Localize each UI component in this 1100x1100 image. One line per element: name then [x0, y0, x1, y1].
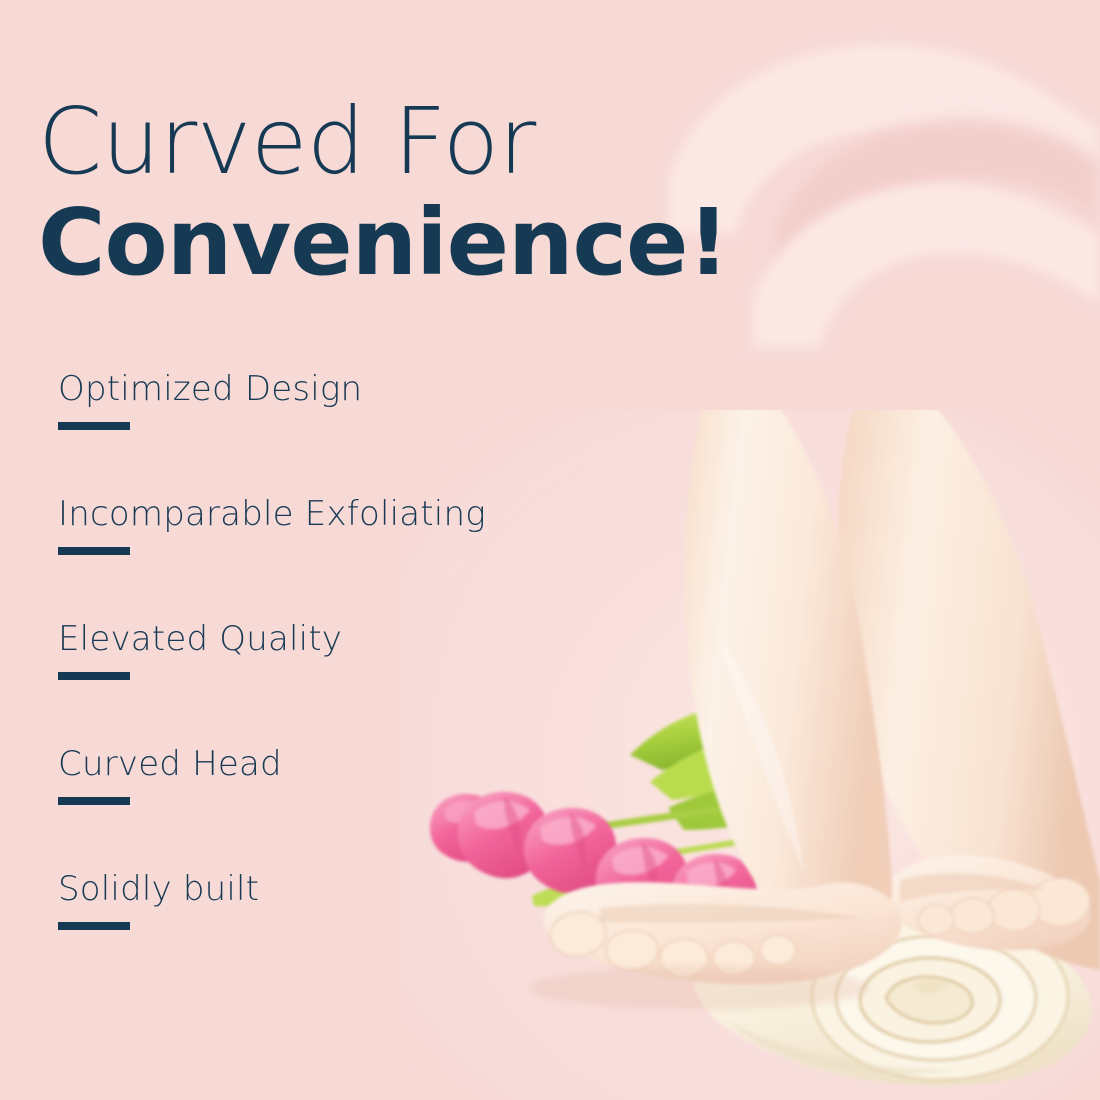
feature-underline-rule — [58, 422, 130, 430]
feature-underline-rule — [58, 672, 130, 680]
feature-label: Curved Head — [58, 747, 578, 781]
feature-item: Optimized Design — [58, 372, 578, 497]
headline-block: Curved For Convenience! — [38, 96, 798, 292]
feature-underline-rule — [58, 922, 130, 930]
feature-label: Optimized Design — [58, 372, 578, 406]
wave-band-lower-icon — [752, 183, 1100, 348]
feature-item: Incomparable Exfoliating — [58, 497, 578, 622]
feature-underline-rule — [58, 797, 130, 805]
headline-line-2: Convenience! — [38, 194, 798, 292]
feature-list: Optimized Design Incomparable Exfoliatin… — [58, 372, 578, 997]
wave-band-mid-icon — [775, 119, 1100, 272]
feature-underline-rule — [58, 547, 130, 555]
feature-label: Incomparable Exfoliating — [58, 497, 578, 531]
feature-item: Elevated Quality — [58, 622, 578, 747]
feature-item: Solidly built — [58, 872, 578, 997]
feature-label: Elevated Quality — [58, 622, 578, 656]
feature-label: Solidly built — [58, 872, 578, 906]
feature-item: Curved Head — [58, 747, 578, 872]
promo-banner: Curved For Convenience! Optimized Design… — [0, 0, 1100, 1100]
headline-line-1: Curved For — [38, 96, 798, 188]
